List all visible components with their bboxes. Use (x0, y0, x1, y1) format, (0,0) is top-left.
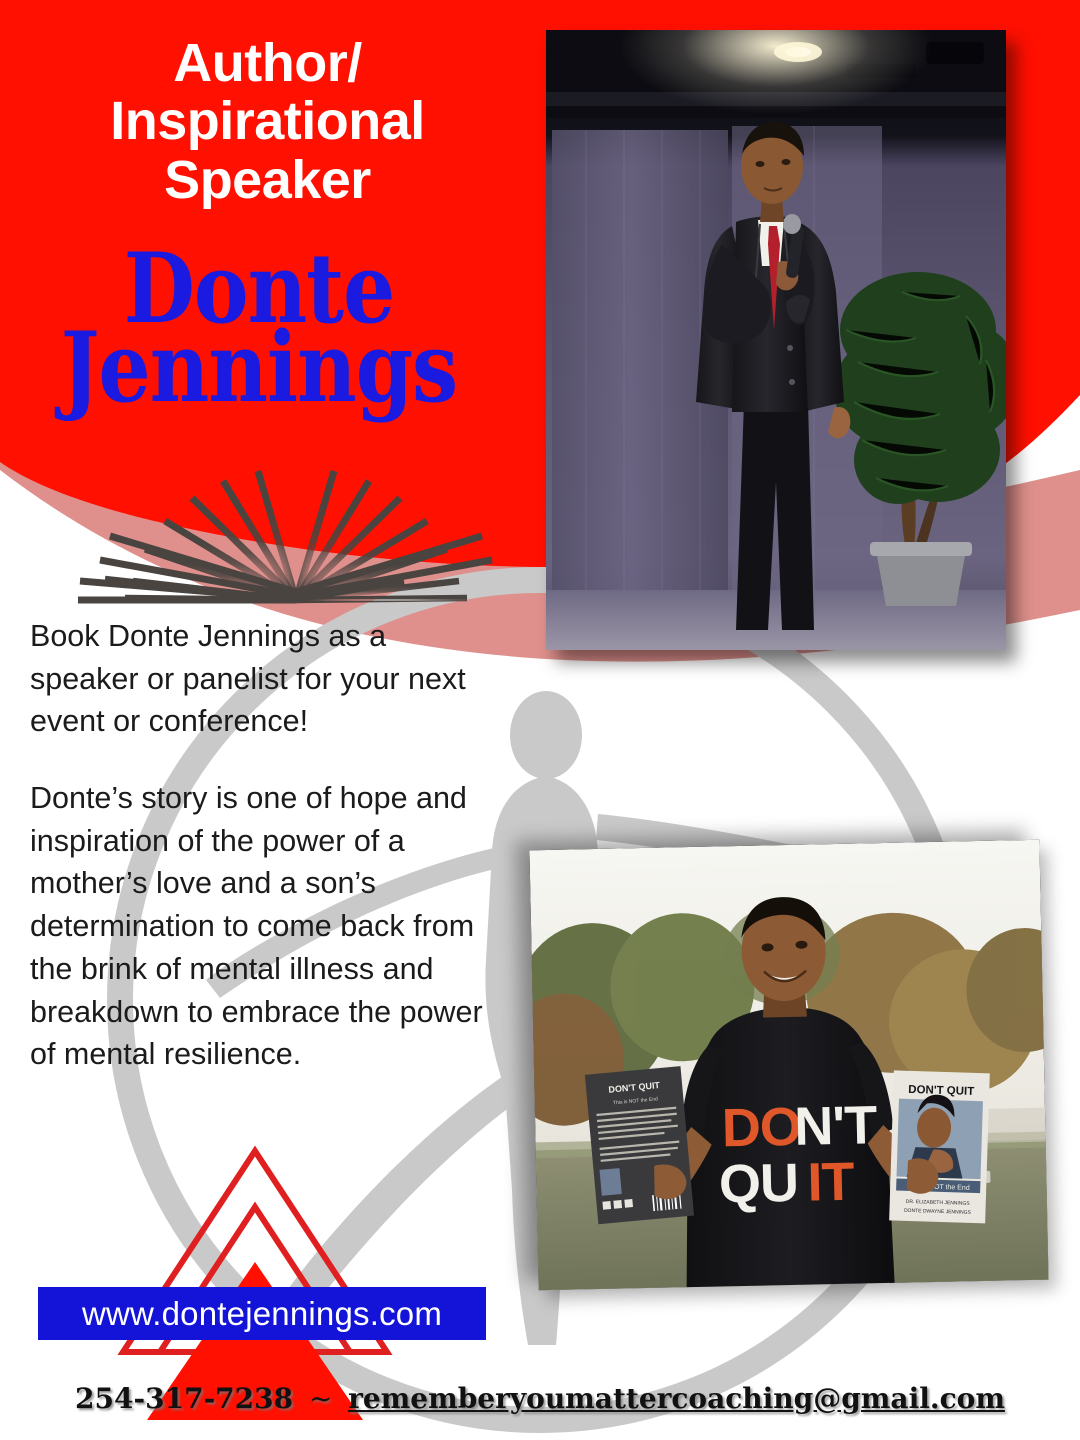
speaker-name: Donte Jennings (24, 243, 494, 400)
book-back-cover: DON'T QUIT This is NOT the End (585, 1066, 694, 1224)
email-address[interactable]: rememberyoumattercoaching@gmail.com (348, 1382, 1005, 1415)
svg-text:N'T: N'T (794, 1095, 878, 1157)
speaker-last-name: Jennings (24, 322, 494, 415)
description-paragraph-2: Donte’s story is one of hope and inspira… (30, 777, 500, 1076)
book-front-cover: DON'T QUIT This is NOT the End DR. ELIZA… (889, 1070, 990, 1223)
headline-line-2: Inspirational (40, 92, 495, 150)
headline-line-3: Speaker (40, 151, 495, 209)
contact-line: 254-317-7238 ~ rememberyoumattercoaching… (0, 1382, 1080, 1415)
phone-number[interactable]: 254-317-7238 (75, 1382, 293, 1415)
photo-speaker-on-stage (546, 30, 1006, 650)
flyer-canvas: Author/ Inspirational Speaker Donte Jenn… (0, 0, 1080, 1440)
headline-line-1: Author/ (40, 34, 495, 92)
photo-with-book: DO N'T QU IT DON'T QUIT This is NOT the … (529, 840, 1048, 1291)
svg-text:IT: IT (807, 1152, 855, 1213)
svg-text:DO: DO (721, 1097, 801, 1159)
separator: ~ (303, 1382, 338, 1415)
website-url: www.dontejennings.com (82, 1295, 442, 1333)
description-paragraph-1: Book Donte Jennings as a speaker or pane… (30, 615, 500, 743)
website-banner[interactable]: www.dontejennings.com (38, 1287, 486, 1340)
svg-text:QU: QU (718, 1153, 798, 1215)
description-block: Book Donte Jennings as a speaker or pane… (30, 615, 500, 1076)
page-title: Author/ Inspirational Speaker (40, 34, 495, 209)
